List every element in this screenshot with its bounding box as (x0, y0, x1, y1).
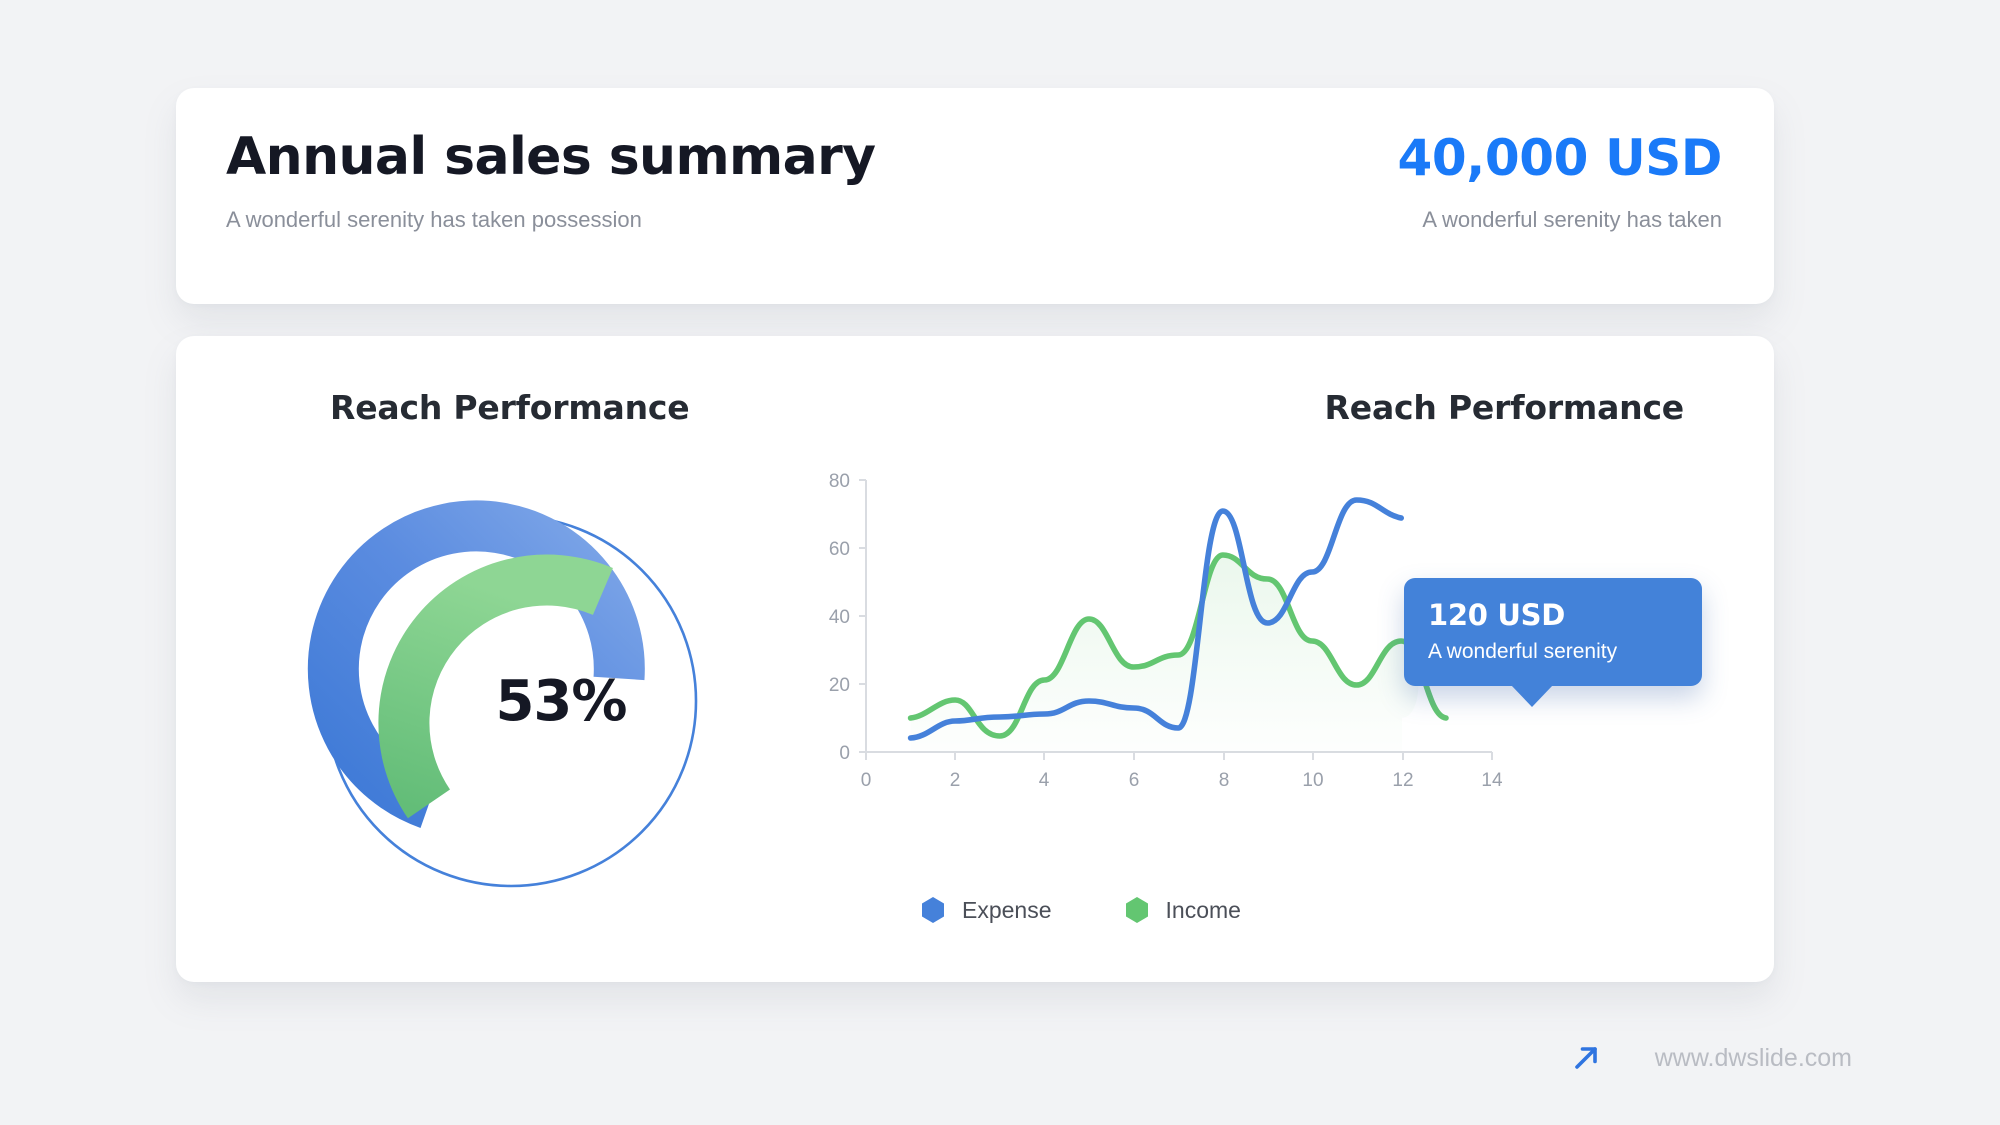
hexagon-marker-icon (920, 896, 946, 924)
line-chart: 80 60 40 20 0 0 2 (816, 466, 1746, 936)
total-amount-subtitle: A wonderful serenity has taken (1398, 207, 1722, 233)
donut-segment-income[interactable] (404, 580, 603, 804)
legend-label-expense: Expense (962, 897, 1052, 924)
page-title: Annual sales summary (226, 130, 875, 185)
chart-legend: Expense Income (920, 896, 1241, 924)
chart-tooltip[interactable]: 120 USD A wonderful serenity (1404, 578, 1702, 686)
header-right-group: 40,000 USD A wonderful serenity has take… (1398, 132, 1722, 233)
y-tick-0: 0 (839, 743, 850, 764)
slide-root: Annual sales summary A wonderful serenit… (0, 0, 2000, 1125)
total-amount-value: 40,000 USD (1398, 132, 1722, 185)
legend-item-expense[interactable]: Expense (920, 896, 1052, 924)
y-tick-20: 20 (829, 675, 850, 696)
arrow-up-right-icon[interactable] (1569, 1041, 1603, 1075)
tooltip-pointer (1511, 685, 1553, 707)
x-tick-0: 0 (861, 770, 872, 791)
x-axis-ticks: 0 2 4 6 8 10 12 14 (861, 752, 1503, 791)
x-tick-2: 2 (950, 770, 961, 791)
y-tick-40: 40 (829, 607, 850, 628)
donut-chart-svg (296, 476, 826, 926)
donut-panel-title: Reach Performance (330, 388, 689, 427)
x-tick-10: 10 (1302, 770, 1323, 791)
hexagon-marker-icon (1124, 896, 1150, 924)
legend-label-income: Income (1166, 897, 1241, 924)
tooltip-description: A wonderful serenity (1428, 640, 1617, 664)
header-left-group: Annual sales summary A wonderful serenit… (226, 130, 875, 233)
legend-item-income[interactable]: Income (1124, 896, 1241, 924)
y-axis-ticks: 80 60 40 20 0 (829, 471, 866, 764)
page-subtitle: A wonderful serenity has taken possessio… (226, 207, 875, 233)
y-tick-60: 60 (829, 539, 850, 560)
x-tick-4: 4 (1039, 770, 1050, 791)
x-tick-6: 6 (1129, 770, 1140, 791)
line-chart-svg: 80 60 40 20 0 0 2 (816, 466, 1746, 936)
y-tick-80: 80 (829, 471, 850, 492)
x-tick-12: 12 (1392, 770, 1413, 791)
summary-header-card: Annual sales summary A wonderful serenit… (176, 88, 1774, 304)
line-panel-title: Reach Performance (1325, 388, 1684, 427)
footer-url[interactable]: www.dwslide.com (1655, 1044, 1852, 1073)
x-tick-8: 8 (1219, 770, 1230, 791)
x-tick-14: 14 (1481, 770, 1503, 791)
donut-chart: 53% (296, 476, 826, 926)
footer: www.dwslide.com (1569, 1041, 1852, 1075)
tooltip-value: 120 USD (1428, 598, 1565, 632)
